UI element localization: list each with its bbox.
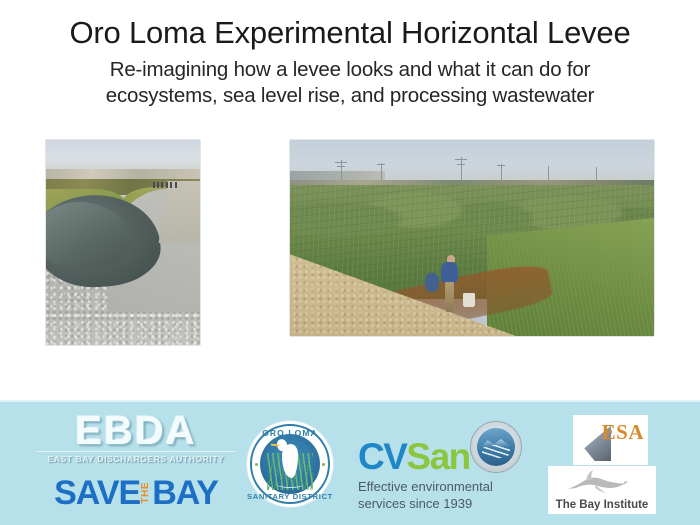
photo-transmission-towers — [290, 144, 654, 183]
seal-dot-right-icon — [322, 463, 325, 466]
photo-people-group — [151, 182, 185, 192]
photo-person-foreground — [439, 262, 461, 313]
banner-top-rule — [0, 400, 700, 402]
oro-loma-text-top: ORO LOMA — [247, 428, 333, 438]
seal-river-icon — [482, 445, 509, 458]
cvsan-tagline-line-2: services since 1939 — [358, 495, 533, 512]
seal-water-icon — [276, 480, 305, 488]
ebda-logo: EBDA EAST BAY DISCHARGERS AUTHORITY — [36, 413, 236, 464]
the-bay-institute-wordmark: The Bay Institute — [548, 499, 656, 511]
seal-inner — [477, 428, 515, 466]
save-the-bay-word-bay: BAY — [152, 476, 218, 510]
photo-white-bucket — [463, 293, 475, 307]
save-the-bay-word-the: THE — [141, 482, 151, 504]
slide-subtitle: Re-imagining how a levee looks and what … — [0, 57, 700, 109]
levee-slope-vegetation-photo — [290, 140, 654, 336]
title-block: Oro Loma Experimental Horizontal Levee R… — [0, 14, 700, 109]
cvsan-tagline-line-1: Effective environmental — [358, 478, 533, 495]
save-the-bay-logo: SAVE THE BAY — [36, 476, 236, 510]
photo-person-background — [425, 273, 440, 304]
cvsan-logo: CVSan Effective environmental services s… — [358, 438, 533, 512]
subtitle-line-2: ecosystems, sea level rise, and processi… — [0, 83, 700, 109]
castro-valley-sanitary-seal-icon — [471, 422, 521, 472]
presentation-slide: Oro Loma Experimental Horizontal Levee R… — [0, 0, 700, 525]
the-bay-institute-logo: The Bay Institute — [548, 466, 656, 514]
flying-heron-icon — [566, 469, 628, 495]
oro-loma-sanitary-district-logo: ORO LOMA SANITARY DISTRICT — [247, 421, 333, 507]
esa-wordmark: ESA — [602, 420, 644, 445]
cvsan-tagline: Effective environmental services since 1… — [358, 478, 533, 512]
page-title: Oro Loma Experimental Horizontal Levee — [0, 14, 700, 52]
save-the-bay-word-save: SAVE — [54, 476, 140, 510]
ebda-wordmark: EBDA — [36, 413, 236, 449]
cvsan-word-cv: CV — [358, 436, 406, 477]
esa-logo: ESA — [573, 415, 648, 465]
subtitle-line-1: Re-imagining how a levee looks and what … — [0, 57, 700, 83]
seal-inner-disc — [260, 434, 320, 494]
oro-loma-text-bottom: SANITARY DISTRICT — [247, 492, 333, 501]
levee-channel-photo — [46, 140, 200, 345]
cvsan-word-san: San — [406, 436, 469, 477]
seal-dot-left-icon — [255, 463, 258, 466]
